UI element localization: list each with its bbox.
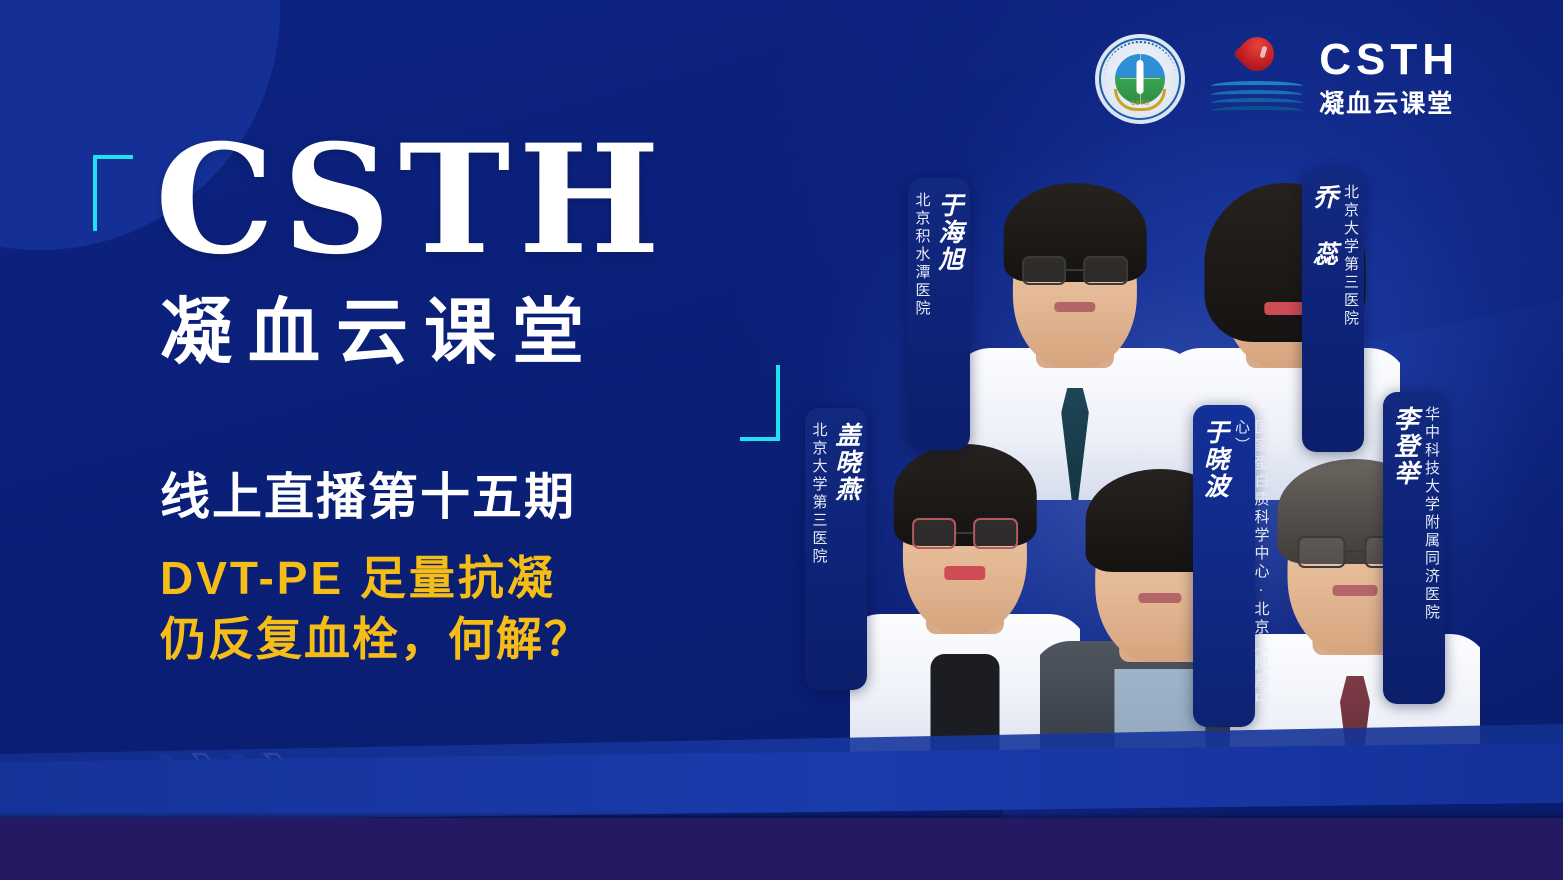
speaker-affiliation-2: 北京大学第三医院	[1341, 184, 1361, 328]
hero-title-cn: 凝血云课堂	[160, 292, 600, 375]
hero-topic-line2: 仍反复血栓，何解？	[160, 609, 592, 670]
speaker-name-2: 乔 蕊	[1310, 184, 1337, 268]
poster-root: CSTH CSTH 凝血云课堂 CSTH 凝血云课堂 线上直播第十五期 DVT-…	[0, 0, 1563, 880]
speaker-name-3: 盖晓燕	[833, 422, 860, 503]
bracket-open-decoration	[93, 155, 133, 231]
speaker-nameplate-3: 盖晓燕 北京大学第三医院	[805, 408, 867, 690]
hero-title-en: CSTH	[155, 125, 668, 275]
speaker-nameplate-4: 于晓波 国家蛋白质科学中心·北京（凤凰中心）	[1193, 405, 1255, 727]
hero-topic: DVT-PE 足量抗凝 仍反复血栓，何解？	[160, 548, 592, 669]
speaker-affiliation-4: 国家蛋白质科学中心·北京（凤凰中心）	[1232, 419, 1271, 709]
speaker-nameplate-2: 乔 蕊 北京大学第三医院	[1302, 170, 1364, 452]
speaker-name-4: 于晓波	[1201, 419, 1228, 500]
speaker-name-5: 李登举	[1391, 406, 1418, 487]
speaker-affiliation-5: 华中科技大学附属同济医院	[1422, 406, 1442, 622]
hero-episode-label: 线上直播第十五期	[160, 457, 576, 529]
hero-topic-line1: DVT-PE 足量抗凝	[160, 548, 592, 609]
speaker-nameplate-1: 于海旭 北京积水潭医院	[908, 178, 970, 450]
speaker-affiliation-3: 北京大学第三医院	[809, 422, 829, 566]
speaker-nameplate-5: 李登举 华中科技大学附属同济医院	[1383, 392, 1445, 704]
speaker-name-1: 于海旭	[936, 192, 963, 273]
speaker-affiliation-1: 北京积水潭医院	[912, 192, 932, 318]
bottom-band-dark	[0, 818, 1563, 880]
